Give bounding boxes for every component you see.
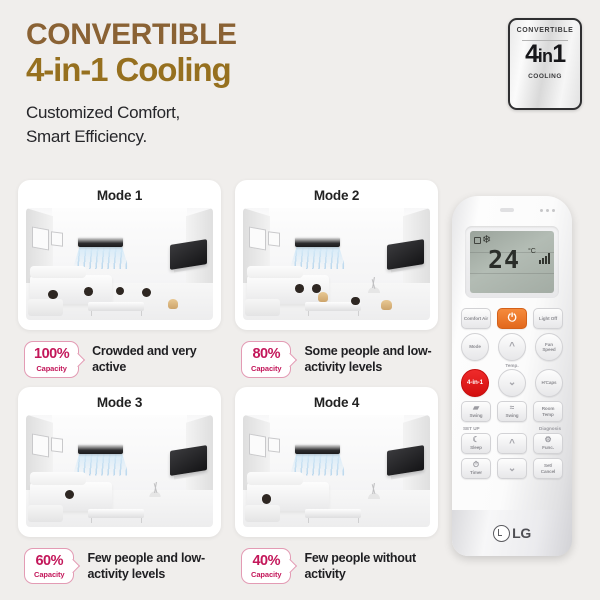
mode-card-3-title: Mode 3 [18,395,221,410]
temp-up-button[interactable]: ^ [498,333,526,361]
capacity-percent: 80% [251,347,281,362]
comfort-air-button[interactable]: Comfort Air [461,308,491,329]
keypad-row-1: Comfort Air ⏻ Light Off [461,308,563,329]
nav-down-button[interactable]: ⌄ [497,458,527,479]
person-head [312,284,321,293]
capacity-row-3: 60% Capacity Few people and low-activity… [18,548,221,585]
gear-icon: ⚙ [544,436,551,444]
swing-vertical-icon: ▰ [473,404,479,412]
ottoman [28,299,64,316]
chevron-up-icon: ^ [509,439,515,449]
plant-decor [368,483,379,499]
chevron-down-icon: ⌄ [508,464,516,474]
func-button[interactable]: ⚙Func. [533,433,563,454]
infographic-canvas: CONVERTIBLE 4-in-1 Cooling Customized Co… [0,0,600,600]
capacity-percent: 100% [34,347,69,362]
capacity-row-1: 100% Capacity Crowded and very active [18,341,221,378]
light-off-button[interactable]: Light Off [533,308,563,329]
lcd-bezel: ❄ 24 °C [465,226,559,298]
swing-horizontal-icon: ≈ [510,404,514,412]
swing-vertical-button[interactable]: ▰Swing [461,401,491,422]
person-head [295,284,304,293]
lcd-display: ❄ 24 °C [470,231,554,293]
ottoman [245,299,281,316]
subheadline-line2: Smart Efficiency. [26,125,456,149]
power-button[interactable]: ⏻ [497,308,527,329]
air-conditioner-unit [78,237,123,247]
coffee-table [88,509,144,518]
chevron-down-icon: ⌄ [508,378,516,388]
room-illustration-4 [243,415,430,527]
moon-icon: ☾ [472,436,479,444]
mode-card-2-image: Mode 2 [235,180,438,330]
wall-frame-small-icon [51,437,63,453]
mode-card-4-title: Mode 4 [235,395,438,410]
person-head [142,288,151,297]
mode-button[interactable]: Mode [461,333,489,361]
keypad-row-6: ⏱Timer ⌄ Set/Cancel [461,458,563,479]
lg-logo-text: LG [512,525,531,541]
fan-bar [548,253,550,264]
badge-num-4: 4 [525,42,538,67]
temp-down-button[interactable]: ⌄ [498,369,526,397]
mode-card-1-image: Mode 1 [18,180,221,330]
sleep-button[interactable]: ☾Sleep [461,433,491,454]
diagnosis-label: Diagnosis [539,426,561,431]
capacity-badge-1: 100% Capacity [24,341,79,378]
ir-emitter [500,208,514,212]
mode-grid: Mode 1 [18,180,438,584]
lg-logo-mark [493,525,510,542]
wall-frame-small-icon [268,231,280,247]
air-conditioner-unit [78,444,123,454]
led-dot [546,209,549,212]
mode-card-3-image: Mode 3 [18,387,221,537]
dog-figure [381,300,391,310]
capacity-badge-2: 80% Capacity [241,341,291,378]
mode-card-4: Mode 4 [235,387,438,585]
mode-row-bottom: Mode 3 [18,387,438,585]
air-conditioner-unit [295,237,340,247]
coffee-table [88,302,144,311]
capacity-word: Capacity [251,570,281,579]
four-in-one-button[interactable]: 4-in-1 [461,369,489,397]
fan-bar [542,258,544,264]
person-figure [84,287,93,296]
keypad-row-2: Mode ^ FanSpeed [461,333,563,361]
air-conditioner-unit [295,444,340,454]
wall-frame-small-icon [51,231,63,247]
capacity-caption-1: Crowded and very active [92,343,221,375]
remote-control: ❄ 24 °C Comfort Air ⏻ Light Off Mode ^ [452,196,572,556]
wall-frame-large-icon [32,227,49,251]
person-figure [48,290,57,300]
person-head [262,494,271,503]
mode-card-1: Mode 1 [18,180,221,378]
keypad-row-4: ▰Swing ≈Swing RoomTemp [461,401,563,422]
wall-frame-large-icon [249,227,266,251]
remote-keypad: Comfort Air ⏻ Light Off Mode ^ FanSpeed … [461,308,563,483]
lcd-temp-unit: °C [528,248,536,255]
person-figure [262,494,271,504]
badge-bottom-label: COOLING [528,73,562,80]
dog-figure [168,299,178,309]
room-illustration-3 [26,415,213,527]
capacity-row-4: 40% Capacity Few people without activity [235,548,438,585]
fan-level-icon [539,253,550,264]
wall-frame-large-icon [249,433,266,457]
person-figure [351,297,359,306]
headline-line2: 4-in-1 Cooling [26,52,456,89]
nav-up-button[interactable]: ^ [497,433,527,454]
led-dot [540,209,543,212]
dog-figure [318,292,328,302]
wall-frame-small-icon [268,437,280,453]
mode-card-3: Mode 3 [18,387,221,585]
person-head [65,490,74,499]
setup-diagnosis-labels: SET UP Diagnosis [463,426,561,431]
badge-top-label: CONVERTIBLE [517,27,574,34]
fan-bar [539,260,541,264]
person-figure [142,288,151,298]
capacity-word: Capacity [34,364,69,373]
capacity-badge-3: 60% Capacity [24,548,74,585]
wall-frame-large-icon [32,433,49,457]
setup-label: SET UP [463,426,480,431]
mode-card-2-title: Mode 2 [235,188,438,203]
keypad-row-3: 4-in-1 ⌄ H'Caps [461,369,563,397]
lcd-temperature: 24 [488,247,520,272]
plant-decor [149,482,160,498]
subheadline-line1: Customized Comfort, [26,101,456,125]
capacity-word: Capacity [34,570,64,579]
lock-icon [474,237,481,244]
person-figure [65,490,74,500]
person-head [116,287,124,295]
room-temp-button[interactable]: RoomTemp [533,401,563,422]
capacity-caption-4: Few people without activity [304,550,438,582]
badge-num-1: 1 [552,42,565,67]
plant-decor [368,277,379,293]
capacity-percent: 60% [34,554,64,569]
person-figure [116,287,124,296]
mode-card-4-image: Mode 4 [235,387,438,537]
led-indicators [540,209,555,212]
led-dot [552,209,555,212]
remote-brand-bar: LG [452,510,572,556]
fan-speed-button[interactable]: FanSpeed [535,333,563,361]
capacity-percent: 40% [251,554,281,569]
person-head [351,297,359,305]
clock-icon: ⏱ [473,461,479,469]
capacity-badge-4: 40% Capacity [241,548,291,585]
mode-card-1-title: Mode 1 [18,188,221,203]
capacity-caption-2: Some people and low-activity levels [304,343,438,375]
subheadline: Customized Comfort, Smart Efficiency. [26,101,456,149]
fan-bar [545,256,547,264]
badge-num-in: in [538,47,552,65]
swing-horizontal-button[interactable]: ≈Swing [497,401,527,422]
capacity-row-2: 80% Capacity Some people and low-activit… [235,341,438,378]
mode-row-top: Mode 1 [18,180,438,378]
coffee-table [305,509,361,518]
temp-label: Temp. [461,363,563,368]
person-head [48,290,57,299]
h-caps-button[interactable]: H'Caps [535,369,563,397]
capacity-word: Capacity [251,364,281,373]
person-head [84,287,93,296]
person-figure [295,284,304,293]
room-illustration-2 [243,208,430,320]
ottoman [245,505,281,522]
chevron-up-icon: ^ [509,342,515,352]
badge-number: 4 in 1 [525,42,565,67]
timer-button[interactable]: ⏱Timer [461,458,491,479]
convertible-badge: CONVERTIBLE 4 in 1 COOLING [508,18,582,110]
page-header: CONVERTIBLE 4-in-1 Cooling Customized Co… [26,20,456,149]
lg-logo: LG [493,525,531,542]
ottoman [28,505,64,522]
mode-card-2: Mode 2 [235,180,438,378]
capacity-caption-3: Few people and low-activity levels [87,550,221,582]
headline-line1: CONVERTIBLE [26,20,456,50]
keypad-row-5: ☾Sleep ^ ⚙Func. [461,433,563,454]
room-illustration-1 [26,208,213,320]
set-cancel-button[interactable]: Set/Cancel [533,458,563,479]
